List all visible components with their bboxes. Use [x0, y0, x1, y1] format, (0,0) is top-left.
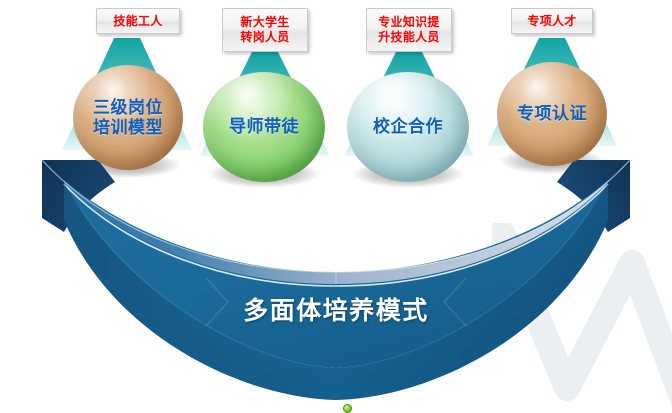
node-label-4: 专项认证: [517, 104, 587, 124]
node-sphere-2[interactable]: 导师带徒: [203, 72, 325, 182]
callout-box-2[interactable]: 新大学生 转岗人员: [222, 8, 308, 52]
node-label-2: 导师带徒: [229, 117, 299, 137]
callout-box-4[interactable]: 专项人才: [511, 8, 593, 34]
callout-box-3[interactable]: 专业知识提 升技能人员: [366, 8, 452, 52]
callout-box-1[interactable]: 技能工人: [96, 8, 180, 34]
funnel-bowl: [0, 160, 672, 413]
node-label-1: 三级岗位 培训模型: [93, 98, 163, 138]
node-sphere-3[interactable]: 校企合作: [347, 72, 469, 182]
node-sphere-1[interactable]: 三级岗位 培训模型: [73, 65, 183, 170]
diagram-canvas: 三级岗位 培训模型 导师带徒 校企合作 专项认证: [0, 0, 672, 413]
node-label-3: 校企合作: [373, 117, 443, 137]
bottom-green-dot[interactable]: [343, 404, 352, 413]
node-sphere-4[interactable]: 专项认证: [497, 62, 607, 166]
banner-title: 多面体培养模式: [0, 291, 672, 327]
